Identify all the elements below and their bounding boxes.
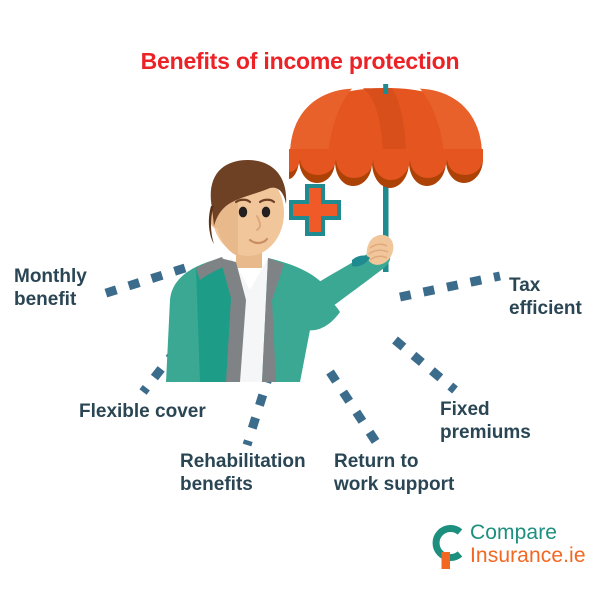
label-rehabilitation-benefits: Rehabilitation benefits <box>180 450 306 496</box>
person-face-shade <box>214 172 238 256</box>
connector-fixed-premiums <box>395 340 455 390</box>
umbrella-pole <box>383 112 389 272</box>
umbrella-under-rim <box>289 153 483 188</box>
umbrella-panel-light-left <box>290 89 352 156</box>
plus-outline <box>289 184 341 236</box>
person-head <box>212 170 284 256</box>
compare-insurance-logo[interactable]: Compare Insurance.ie <box>424 521 584 573</box>
person-shirt <box>220 258 282 382</box>
person-raised-arm <box>292 249 390 322</box>
label-return-to-work-support: Return to work support <box>334 450 454 496</box>
person-shoulder-seam <box>196 257 227 280</box>
person-eye-left <box>239 207 247 218</box>
magnifying-glass-c-icon <box>424 521 468 571</box>
connector-return-to-work <box>330 372 378 445</box>
label-flexible-cover: Flexible cover <box>79 400 206 423</box>
logo-wordmark: Compare Insurance.ie <box>470 522 586 567</box>
person-jacket-left <box>166 258 238 382</box>
person-jacket-right <box>262 258 330 382</box>
person-lapel-right <box>262 258 284 382</box>
label-monthly-benefit: Monthly benefit <box>14 265 87 311</box>
medical-plus-icon <box>289 184 341 236</box>
umbrella-panel-center <box>363 88 406 156</box>
umbrella-panel-light-right <box>420 89 482 156</box>
person-neck <box>236 242 262 268</box>
person-brow-left <box>236 200 250 202</box>
person-mouth <box>250 239 267 243</box>
umbrella-icon <box>289 84 483 272</box>
infographic-canvas: Benefits of income protection <box>0 0 600 600</box>
page-title: Benefits of income protection <box>0 48 600 75</box>
connector-flexible-cover <box>143 350 176 392</box>
connector-monthly-benefit <box>100 268 185 295</box>
person-eye-right <box>262 207 270 218</box>
person-lapel-left <box>220 258 246 382</box>
label-fixed-premiums: Fixed premiums <box>440 398 531 444</box>
umbrella-scallop-band <box>289 149 483 180</box>
person-cuff <box>352 256 370 267</box>
connector-tax-efficient <box>400 276 500 297</box>
label-tax-efficient: Tax efficient <box>509 274 582 320</box>
person-sleeve-right <box>282 278 340 330</box>
person-illustration <box>166 160 393 382</box>
logo-compare-text: Compare <box>470 522 586 545</box>
logo-insurance-text: Insurance.ie <box>470 545 586 568</box>
person-hand <box>367 235 394 265</box>
plus-inner <box>293 188 337 232</box>
person-hair-side <box>209 206 214 244</box>
person-hair <box>211 160 286 226</box>
person-nose <box>257 216 260 230</box>
person-jacket-left-shade <box>196 258 238 382</box>
person-ear <box>210 210 222 228</box>
umbrella-finial <box>383 84 388 94</box>
person-brow-right <box>260 200 274 202</box>
connector-rehabilitation <box>247 372 270 445</box>
umbrella-canopy <box>290 88 482 156</box>
